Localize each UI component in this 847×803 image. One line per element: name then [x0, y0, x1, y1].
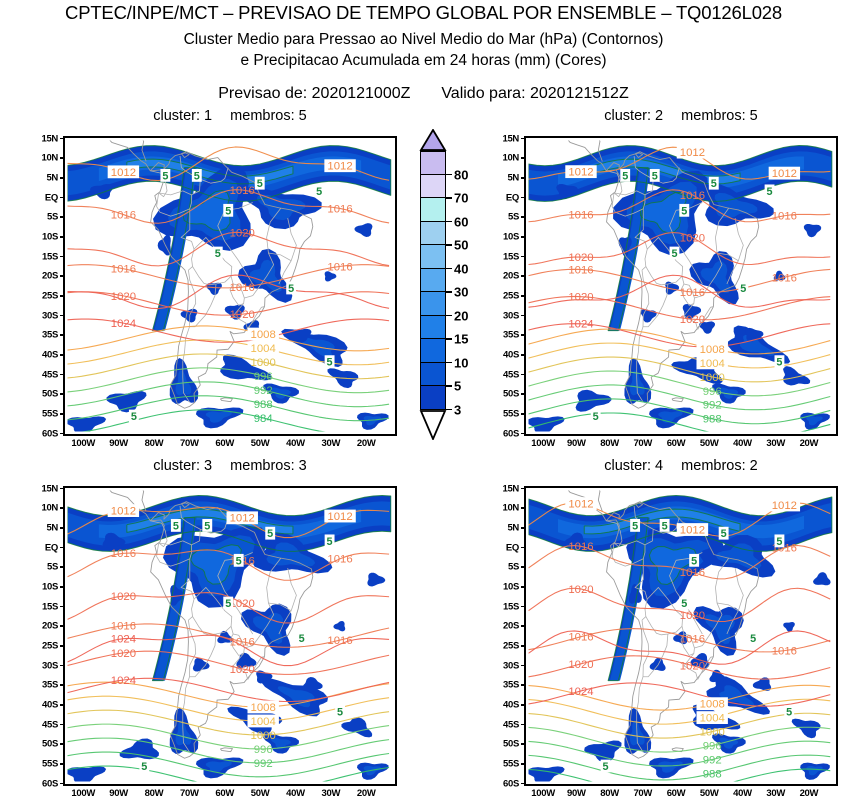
precip-contour-label: 5: [327, 357, 333, 369]
precip-contour-label: 5: [767, 186, 773, 198]
valid-for-label: Valido para:: [441, 85, 525, 102]
y-axis-tick-mark: [521, 138, 526, 140]
y-axis-tick-mark: [60, 724, 65, 726]
isobar-label: 1012: [772, 168, 797, 180]
precip-contour-label: 5: [162, 170, 168, 182]
y-axis-tick-label: 15N: [484, 133, 519, 144]
precip-contour-label: 5: [337, 707, 343, 719]
isobar-label: 1016: [772, 211, 797, 223]
precip-contour-label: 5: [632, 520, 638, 532]
colorbar: 80706050403020151053: [420, 129, 485, 449]
isobar-label: 1012: [772, 500, 797, 512]
cluster-label-3: cluster:: [153, 458, 200, 474]
colorbar-tick-mark: [446, 221, 452, 223]
y-axis-tick-label: 10S: [484, 581, 519, 592]
colorbar-tick-label: 3: [454, 402, 461, 417]
y-axis-tick-mark: [521, 625, 526, 627]
isobar-label: 1008: [251, 329, 276, 341]
isobar-label: 1004: [251, 716, 276, 728]
x-axis-tick-label: 20W: [341, 438, 391, 449]
isobar-label: 1016: [568, 264, 593, 276]
members-label-3: membros:: [230, 458, 294, 474]
forecast-from-label: Previsao de:: [218, 85, 307, 102]
y-axis-tick-mark: [60, 665, 65, 667]
colorbar-tick-mark: [446, 385, 452, 387]
colorbar-tick-mark: [446, 244, 452, 246]
precip-contour-label: 5: [622, 170, 628, 182]
precip-contour-label: 5: [204, 520, 210, 532]
y-axis-tick-mark: [60, 256, 65, 258]
colorbar-segment: [420, 245, 446, 269]
precip-contour-label: 5: [299, 633, 305, 645]
colorbar-segment: [420, 292, 446, 316]
colorbar-segment: [420, 175, 446, 199]
isobar-label: 1020: [568, 252, 593, 264]
y-axis-tick-label: 10N: [23, 153, 58, 164]
y-axis-tick-mark: [521, 433, 526, 435]
colorbar-tick-mark: [446, 362, 452, 364]
y-axis-tick-mark: [521, 295, 526, 297]
precip-contour-label: 5: [225, 205, 231, 217]
colorbar-tick-label: 80: [454, 167, 468, 182]
y-axis-tick-mark: [521, 566, 526, 568]
y-axis-tick-label: 15N: [23, 483, 58, 494]
isobar-label: 1024: [111, 318, 136, 330]
isobar-label: 1008: [700, 699, 725, 711]
y-axis-tick-label: 45S: [484, 719, 519, 730]
y-axis-tick-label: 5N: [484, 172, 519, 183]
y-axis-tick-label: 5S: [484, 212, 519, 223]
y-axis-tick-label: 5N: [23, 522, 58, 533]
y-axis-tick-mark: [521, 704, 526, 706]
precip-contour-label: 5: [652, 170, 658, 182]
y-axis-tick-mark: [521, 354, 526, 356]
cluster-value-3: 3: [204, 458, 212, 474]
y-axis-tick-mark: [521, 724, 526, 726]
cluster-value-4: 4: [655, 458, 663, 474]
map-canvas: 9849889929961000100410081012101210161016…: [65, 138, 395, 434]
y-axis-tick-label: 15S: [23, 601, 58, 612]
y-axis-tick-label: 50S: [484, 389, 519, 400]
isobar-label: 1020: [568, 584, 593, 596]
isobar-label: 992: [703, 400, 722, 412]
y-axis-tick-mark: [60, 354, 65, 356]
y-axis-tick-mark: [60, 547, 65, 549]
forecast-from-value: 2020121000Z: [312, 85, 411, 102]
y-axis-tick-label: 10N: [484, 153, 519, 164]
y-axis-tick-label: 25S: [23, 640, 58, 651]
isobar-label: 1020: [230, 664, 255, 676]
cluster-label-2: cluster:: [604, 108, 651, 124]
y-axis-tick-label: 5S: [484, 562, 519, 573]
y-axis-tick-mark: [521, 275, 526, 277]
y-axis-tick-label: 60S: [484, 778, 519, 789]
precip-contour-label: 5: [288, 283, 294, 295]
isobar-label: 1012: [568, 167, 593, 179]
y-axis-tick-mark: [60, 507, 65, 509]
members-label-2: membros:: [681, 108, 745, 124]
y-axis-tick-label: 60S: [23, 428, 58, 439]
precip-contour-label: 5: [740, 283, 746, 295]
isobar-label: 1020: [230, 598, 255, 610]
colorbar-segment: [420, 269, 446, 293]
y-axis-tick-label: EQ: [23, 542, 58, 553]
isobar-label: 1024: [568, 686, 593, 698]
panel-title-3: cluster: 3 membros: 3: [63, 458, 397, 474]
members-value-2: 5: [750, 108, 758, 124]
isobar-label: 1024: [568, 319, 593, 331]
isobar-label: 996: [254, 371, 273, 383]
y-axis-tick-mark: [521, 586, 526, 588]
y-axis-tick-label: 40S: [484, 349, 519, 360]
y-axis-tick-mark: [521, 527, 526, 529]
isobar-label: 988: [703, 414, 722, 426]
isobar-label: 996: [254, 744, 273, 756]
isobar-label: 1012: [327, 161, 352, 173]
isobar-label: 1012: [568, 499, 593, 511]
y-axis-tick-mark: [521, 547, 526, 549]
isobar-label: 1024: [111, 634, 136, 646]
precip-contour-label: 5: [593, 411, 599, 423]
y-axis-tick-mark: [60, 527, 65, 529]
precip-contour-label: 5: [267, 528, 273, 540]
isobar-label: 1004: [251, 343, 276, 355]
y-axis-tick-mark: [60, 413, 65, 415]
isobar-label: 1004: [700, 358, 725, 370]
isobar-label: 1004: [700, 713, 725, 725]
isobar-label: 1020: [230, 309, 255, 321]
precip-contour-label: 5: [236, 555, 242, 567]
colorbar-tick-mark: [446, 197, 452, 199]
y-axis-tick-label: 40S: [484, 699, 519, 710]
y-axis-tick-label: 20S: [484, 621, 519, 632]
y-axis-tick-label: 20S: [23, 621, 58, 632]
y-axis-tick-mark: [521, 606, 526, 608]
isobar-label: 1012: [680, 147, 705, 159]
isobar-label: 1016: [230, 282, 255, 294]
y-axis-tick-label: 10N: [23, 503, 58, 514]
colorbar-tick-label: 50: [454, 238, 468, 253]
isobar-label: 1020: [680, 314, 705, 326]
y-axis-tick-label: 35S: [484, 680, 519, 691]
isobar-label: 1016: [111, 621, 136, 633]
y-axis-tick-label: 50S: [23, 739, 58, 750]
colorbar-segment: [420, 386, 446, 410]
y-axis-tick-mark: [521, 334, 526, 336]
isobar-label: 1016: [772, 646, 797, 658]
colorbar-tick-label: 5: [454, 379, 461, 394]
y-axis-tick-label: 10S: [23, 581, 58, 592]
isobar-label: 1020: [568, 292, 593, 304]
isobar-label: 1012: [111, 506, 136, 518]
map-panel-cluster-3[interactable]: 9929961000100410081012101210121016101610…: [63, 486, 397, 786]
y-axis-tick-mark: [521, 157, 526, 159]
cluster-label-4: cluster:: [604, 458, 651, 474]
isobar-label: 1016: [772, 272, 797, 284]
y-axis-tick-mark: [521, 743, 526, 745]
isobar-label: 1008: [700, 344, 725, 356]
isobar-label: 1016: [111, 210, 136, 222]
y-axis-tick-mark: [521, 763, 526, 765]
colorbar-tick-mark: [446, 338, 452, 340]
y-axis-tick-label: 55S: [23, 408, 58, 419]
isobar-label: 1008: [251, 702, 276, 714]
precip-contour-label: 5: [776, 536, 782, 548]
map-panel-cluster-1[interactable]: 9849889929961000100410081012101210161016…: [63, 136, 397, 436]
y-axis-tick-mark: [60, 138, 65, 140]
y-axis-tick-mark: [60, 275, 65, 277]
colorbar-tick-mark: [446, 268, 452, 270]
members-value-4: 2: [750, 458, 758, 474]
colorbar-segment: [420, 222, 446, 246]
colorbar-tick-label: 60: [454, 214, 468, 229]
precip-contour-label: 5: [257, 178, 263, 190]
y-axis-tick-mark: [60, 606, 65, 608]
colorbar-segment: [420, 151, 446, 175]
isobar-label: 1020: [680, 661, 705, 673]
isobar-label: 1020: [680, 610, 705, 622]
isobar-label: 1016: [111, 548, 136, 560]
isobar-label: 1016: [230, 185, 255, 197]
y-axis-tick-mark: [521, 393, 526, 395]
y-axis-tick-mark: [60, 645, 65, 647]
y-axis-tick-label: 50S: [23, 389, 58, 400]
cluster-value-1: 1: [204, 108, 212, 124]
isobar-label: 1016: [111, 264, 136, 276]
precip-contour-label: 5: [750, 633, 756, 645]
y-axis-tick-mark: [60, 763, 65, 765]
isobar-label: 1012: [680, 524, 705, 536]
isobar-label: 1016: [327, 554, 352, 566]
members-value-3: 3: [299, 458, 307, 474]
panel-title-1: cluster: 1 membros: 5: [63, 108, 397, 124]
y-axis-tick-label: EQ: [23, 192, 58, 203]
precip-contour-label: 5: [225, 598, 231, 610]
y-axis-tick-label: 45S: [23, 369, 58, 380]
y-axis-tick-label: 45S: [23, 719, 58, 730]
y-axis-tick-label: 40S: [23, 699, 58, 710]
isobar-label: 1016: [568, 541, 593, 553]
colorbar-top-divider: [420, 150, 446, 152]
isobar-label: 1020: [111, 291, 136, 303]
y-axis-tick-label: 15N: [484, 483, 519, 494]
colorbar-tick-mark: [446, 174, 452, 176]
isobar-label: 1000: [251, 730, 276, 742]
y-axis-tick-mark: [60, 334, 65, 336]
y-axis-tick-label: EQ: [484, 542, 519, 553]
colorbar-segment: [420, 363, 446, 387]
y-axis-tick-label: 30S: [23, 310, 58, 321]
precip-contour-label: 5: [662, 520, 668, 532]
isobar-label: 996: [703, 741, 722, 753]
panel-title-4: cluster: 4 membros: 2: [524, 458, 838, 474]
y-axis-tick-label: 30S: [484, 310, 519, 321]
y-axis-tick-mark: [521, 197, 526, 199]
isobar-label: 1016: [568, 632, 593, 644]
isobar-label: 1016: [680, 567, 705, 579]
y-axis-tick-label: 25S: [484, 640, 519, 651]
colorbar-tick-label: 15: [454, 332, 468, 347]
precip-contour-label: 5: [681, 598, 687, 610]
precip-contour-label: 5: [776, 357, 782, 369]
precip-contour-label: 5: [316, 186, 322, 198]
colorbar-tick-label: 30: [454, 285, 468, 300]
y-axis-tick-mark: [60, 157, 65, 159]
isobar-label: 1000: [700, 372, 725, 384]
y-axis-tick-mark: [60, 315, 65, 317]
isobar-label: 992: [703, 754, 722, 766]
x-axis-tick-label: 20W: [784, 438, 834, 449]
y-axis-tick-label: 55S: [23, 758, 58, 769]
y-axis-tick-mark: [60, 566, 65, 568]
isobar-label: 1000: [700, 727, 725, 739]
y-axis-tick-mark: [521, 488, 526, 490]
y-axis-tick-mark: [60, 393, 65, 395]
colorbar-tick-label: 10: [454, 355, 468, 370]
precip-contour-label: 5: [215, 248, 221, 260]
isobar-label: 1012: [230, 513, 255, 525]
y-axis-tick-mark: [521, 256, 526, 258]
y-axis-tick-mark: [521, 177, 526, 179]
y-axis-tick-mark: [60, 177, 65, 179]
y-axis-tick-label: 25S: [23, 290, 58, 301]
precip-contour-label: 5: [141, 761, 147, 773]
precip-contour-label: 5: [327, 536, 333, 548]
y-axis-tick-mark: [60, 704, 65, 706]
y-axis-tick-label: 15N: [23, 133, 58, 144]
isobar-label: 1016: [230, 637, 255, 649]
y-axis-tick-mark: [60, 236, 65, 238]
members-label-4: membros:: [681, 458, 745, 474]
y-axis-tick-label: 5N: [23, 172, 58, 183]
y-axis-tick-mark: [521, 236, 526, 238]
y-axis-tick-label: 5S: [23, 212, 58, 223]
y-axis-tick-mark: [60, 374, 65, 376]
colorbar-segment: [420, 339, 446, 363]
cluster-label-1: cluster:: [153, 108, 200, 124]
isobar-label: 1020: [680, 233, 705, 245]
colorbar-tick-mark: [446, 315, 452, 317]
y-axis-tick-label: 10S: [23, 231, 58, 242]
isobar-label: 1016: [568, 209, 593, 221]
isobar-label: 1016: [327, 203, 352, 215]
isobar-label: 1024: [111, 675, 136, 687]
precip-contour-label: 5: [721, 528, 727, 540]
y-axis-tick-mark: [60, 625, 65, 627]
isobar-label: 1020: [568, 659, 593, 671]
precip-contour-label: 5: [603, 761, 609, 773]
y-axis-tick-label: 55S: [484, 758, 519, 769]
subtitle-line-2: e Precipitacao Acumulada em 24 horas (mm…: [0, 52, 847, 70]
x-axis-tick-label: 20W: [341, 788, 391, 799]
y-axis-tick-label: 15S: [484, 601, 519, 612]
y-axis-tick-mark: [60, 684, 65, 686]
map-canvas: 9929961000100410081012101210121016101610…: [65, 488, 395, 784]
y-axis-tick-label: 10S: [484, 231, 519, 242]
map-panel-cluster-4[interactable]: 9889929961000100410081012101210121016101…: [524, 486, 838, 786]
isobar-label: 984: [254, 413, 273, 425]
forecast-time-line: Previsao de: 2020121000Z Valido para: 20…: [0, 85, 847, 103]
isobar-label: 1016: [680, 190, 705, 202]
isobar-label: 1020: [230, 228, 255, 240]
colorbar-segment: [420, 316, 446, 340]
map-canvas: 9889929961000100410081012101210121016101…: [526, 488, 836, 784]
y-axis-tick-mark: [521, 315, 526, 317]
isobar-label: 992: [254, 758, 273, 770]
isobar-label: 988: [254, 399, 273, 411]
y-axis-tick-mark: [60, 295, 65, 297]
y-axis-tick-mark: [521, 645, 526, 647]
y-axis-tick-label: 5S: [23, 562, 58, 573]
y-axis-tick-mark: [521, 684, 526, 686]
y-axis-tick-label: 10N: [484, 503, 519, 514]
y-axis-tick-mark: [521, 507, 526, 509]
isobar-label: 1012: [327, 511, 352, 523]
precip-contour-label: 5: [681, 205, 687, 217]
y-axis-tick-mark: [60, 586, 65, 588]
y-axis-tick-mark: [521, 413, 526, 415]
y-axis-tick-label: EQ: [484, 192, 519, 203]
y-axis-tick-label: 30S: [484, 660, 519, 671]
isobar-label: 992: [254, 385, 273, 397]
precip-contour-label: 5: [173, 520, 179, 532]
y-axis-tick-label: 45S: [484, 369, 519, 380]
y-axis-tick-mark: [60, 488, 65, 490]
colorbar-segment: [420, 198, 446, 222]
precip-contour-label: 5: [691, 555, 697, 567]
members-value-1: 5: [299, 108, 307, 124]
map-panel-cluster-2[interactable]: 9889929961000100410081012101210121016101…: [524, 136, 838, 436]
y-axis-tick-mark: [521, 665, 526, 667]
isobar-label: 1016: [680, 633, 705, 645]
y-axis-tick-label: 50S: [484, 739, 519, 750]
isobar-label: 1000: [251, 357, 276, 369]
y-axis-tick-label: 20S: [484, 271, 519, 282]
precip-contour-label: 5: [711, 178, 717, 190]
colorbar-tick-mark: [446, 291, 452, 293]
y-axis-tick-label: 60S: [23, 778, 58, 789]
isobar-label: 1016: [680, 287, 705, 299]
cluster-value-2: 2: [655, 108, 663, 124]
y-axis-tick-label: 35S: [484, 330, 519, 341]
isobar-label: 1016: [327, 261, 352, 273]
y-axis-tick-label: 15S: [23, 251, 58, 262]
precip-contour-label: 5: [671, 248, 677, 260]
isobar-label: 1020: [111, 591, 136, 603]
y-axis-tick-mark: [60, 783, 65, 785]
isobar-label: 988: [703, 768, 722, 780]
y-axis-tick-label: 30S: [23, 660, 58, 671]
y-axis-tick-label: 20S: [23, 271, 58, 282]
isobar-label: 996: [703, 386, 722, 398]
y-axis-tick-mark: [60, 197, 65, 199]
y-axis-tick-label: 15S: [484, 251, 519, 262]
panel-title-2: cluster: 2 membros: 5: [524, 108, 838, 124]
colorbar-tick-label: 20: [454, 308, 468, 323]
valid-for-value: 2020121512Z: [530, 85, 629, 102]
main-title: CPTEC/INPE/MCT – PREVISAO DE TEMPO GLOBA…: [0, 2, 847, 24]
isobar-label: 1012: [111, 167, 136, 179]
y-axis-tick-mark: [60, 433, 65, 435]
map-canvas: 9889929961000100410081012101210121016101…: [526, 138, 836, 434]
y-axis-tick-label: 35S: [23, 330, 58, 341]
y-axis-tick-mark: [521, 216, 526, 218]
subtitle-line-1: Cluster Medio para Pressao ao Nivel Medi…: [0, 31, 847, 49]
y-axis-tick-label: 25S: [484, 290, 519, 301]
isobar-label: 1016: [327, 635, 352, 647]
y-axis-tick-mark: [521, 374, 526, 376]
y-axis-tick-label: 55S: [484, 408, 519, 419]
